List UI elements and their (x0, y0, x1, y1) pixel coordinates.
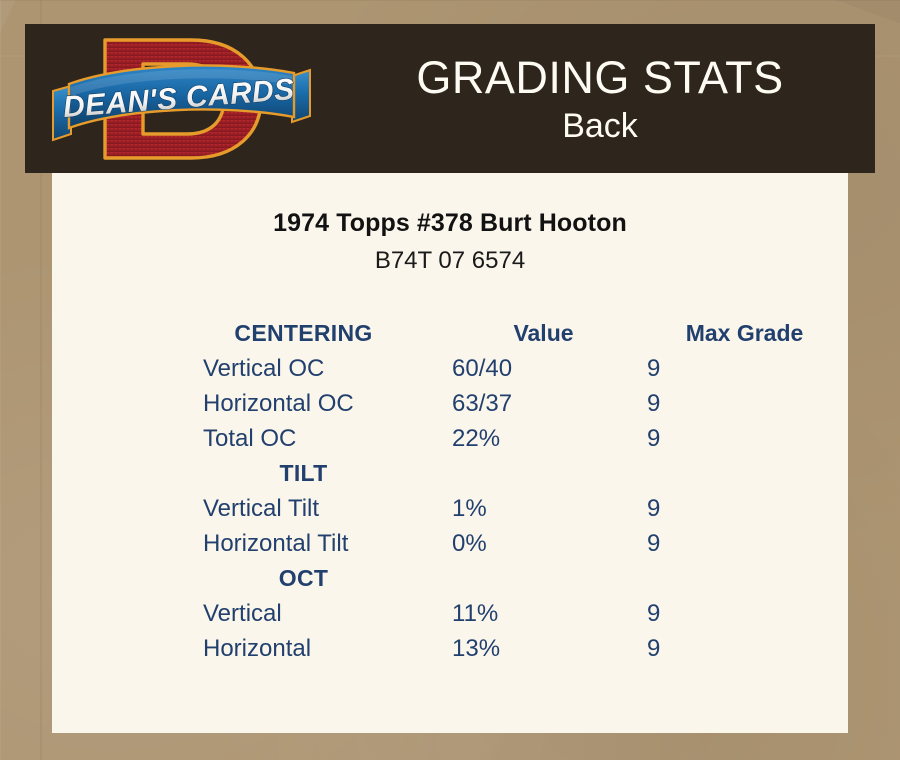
stat-max-grade: 9 (647, 421, 848, 456)
stat-label: Total OC (52, 421, 452, 456)
stat-max-grade: 9 (647, 631, 848, 666)
table-row: Horizontal OC63/379 (52, 386, 848, 421)
stats-section-label: TILT (52, 456, 452, 491)
stat-label: Vertical Tilt (52, 491, 452, 526)
stats-section-label: OCT (52, 561, 452, 596)
stats-section-header-row: CENTERINGValueMax Grade (52, 316, 848, 351)
stat-value: 1% (452, 491, 647, 526)
stat-max-grade: 9 (647, 596, 848, 631)
max-grade-column-spacer (647, 561, 848, 596)
value-column-spacer (452, 561, 647, 596)
stat-max-grade: 9 (647, 351, 848, 386)
max-grade-column-spacer (647, 456, 848, 491)
stat-max-grade: 9 (647, 526, 848, 561)
card-title: 1974 Topps #378 Burt Hooton (52, 209, 848, 238)
deans-cards-logo[interactable]: DEAN'S CARDS (49, 28, 314, 170)
header-bar: DEAN'S CARDS GRADING STATS Back (25, 24, 875, 173)
stat-value: 22% (452, 421, 647, 456)
table-row: Vertical OC60/409 (52, 351, 848, 386)
stat-value: 11% (452, 596, 647, 631)
stat-max-grade: 9 (647, 386, 848, 421)
header-titles: GRADING STATS Back (325, 24, 875, 173)
stat-label: Horizontal Tilt (52, 526, 452, 561)
page-subtitle: Back (562, 106, 638, 146)
stat-label: Horizontal OC (52, 386, 452, 421)
value-column-spacer (452, 456, 647, 491)
stat-label: Horizontal (52, 631, 452, 666)
card-serial-number: B74T 07 6574 (52, 247, 848, 275)
page-title: GRADING STATS (416, 52, 783, 104)
stat-label: Vertical (52, 596, 452, 631)
stat-label: Vertical OC (52, 351, 452, 386)
grading-stats-table: CENTERINGValueMax GradeVertical OC60/409… (52, 316, 848, 666)
stats-section-label: CENTERING (52, 316, 452, 351)
max-grade-column-header: Max Grade (647, 316, 848, 351)
content-panel: 1974 Topps #378 Burt Hooton B74T 07 6574… (52, 173, 848, 733)
table-row: Vertical Tilt1%9 (52, 491, 848, 526)
stat-value: 0% (452, 526, 647, 561)
stat-value: 63/37 (452, 386, 647, 421)
table-row: Total OC22%9 (52, 421, 848, 456)
stat-value: 60/40 (452, 351, 647, 386)
stats-section-header-row: OCT (52, 561, 848, 596)
grading-stats-body: CENTERINGValueMax GradeVertical OC60/409… (52, 316, 848, 666)
stat-max-grade: 9 (647, 491, 848, 526)
stats-section-header-row: TILT (52, 456, 848, 491)
table-row: Vertical11%9 (52, 596, 848, 631)
value-column-header: Value (452, 316, 647, 351)
table-row: Horizontal13%9 (52, 631, 848, 666)
table-row: Horizontal Tilt0%9 (52, 526, 848, 561)
stat-value: 13% (452, 631, 647, 666)
logo-graphic: DEAN'S CARDS (49, 28, 314, 170)
